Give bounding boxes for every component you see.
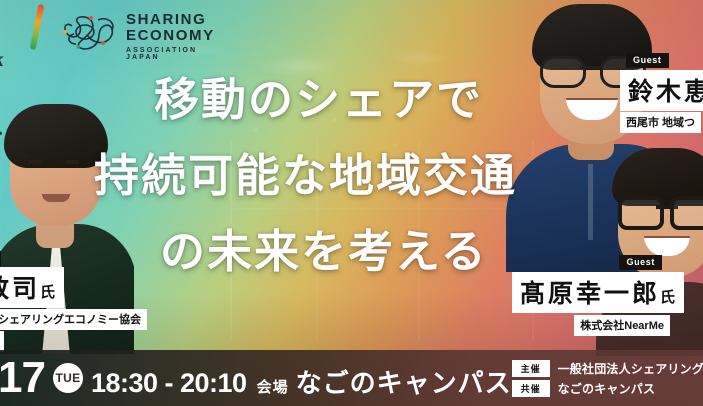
guest-2-name-suffix: 氏 bbox=[660, 289, 676, 306]
guest-1-role-badge: Guest bbox=[626, 53, 669, 68]
organizer-tag-co: 共催 bbox=[512, 380, 550, 397]
guest-2-name-main: 髙原幸一郎 bbox=[520, 280, 660, 308]
guest-1-name-row: 鈴木恵 bbox=[620, 70, 703, 111]
guest-2-role-badge: Guest bbox=[619, 255, 662, 270]
guest-2-name: 髙原幸一郎氏 bbox=[512, 272, 684, 313]
organizer-row: 主催 一般社団法人シェアリングエコ bbox=[512, 360, 703, 377]
moderator-name-main: 下敬司 bbox=[0, 275, 40, 303]
moderator-name-row: 下敬司氏 bbox=[0, 267, 147, 308]
organizer-tag-main: 主催 bbox=[512, 360, 550, 377]
rainbow-stroke-icon bbox=[30, 4, 45, 50]
title-line-2: 持続可能な地域交通 bbox=[94, 138, 552, 214]
logo-line-1: SHARING bbox=[126, 12, 218, 28]
moderator-affiliation-row-1: 社団法人シェアリングエコノミー協会 bbox=[0, 309, 147, 330]
organizer-name-main: 一般社団法人シェアリングエコ bbox=[558, 360, 703, 377]
event-banner: nk re. SHARING ECONOMY ASSOCIATION JAPAN… bbox=[0, 0, 703, 406]
event-day-of-week-badge: TUE bbox=[53, 363, 83, 393]
moderator-role-badge: erator bbox=[0, 251, 1, 266]
venue-label: 会場 bbox=[257, 376, 289, 397]
guest-2-name-plate: Guest 髙原幸一郎氏 株式会社NearMe bbox=[484, 252, 684, 336]
event-info-bar: 17 TUE 18:30 - 20:10 会場 なごのキャンパス 主催 一般社団… bbox=[0, 350, 703, 406]
event-time: 18:30 - 20:10 bbox=[91, 368, 247, 399]
think-line-1: nk bbox=[0, 48, 54, 71]
logo-line-3: ASSOCIATION JAPAN bbox=[126, 47, 218, 61]
guest-1-affiliation: 西尾市 地域つ bbox=[620, 112, 701, 133]
event-datetime-group: 17 TUE 18:30 - 20:10 会場 なごのキャンパス bbox=[0, 356, 512, 400]
guest-1-role-row: Guest bbox=[626, 50, 703, 68]
moderator-name: 下敬司氏 bbox=[0, 267, 64, 308]
guest-2-lens-left bbox=[618, 196, 664, 230]
organizer-row: 共催 なごのキャンパス bbox=[512, 380, 703, 397]
moderator-name-plate: erator 下敬司氏 社団法人シェアリングエコノミー協会 副支部長 bbox=[0, 248, 147, 352]
guest-2-glasses-icon bbox=[618, 196, 703, 222]
moderator-eye-right bbox=[66, 160, 79, 164]
guest-1-affiliation-row: 西尾市 地域つ bbox=[620, 112, 703, 133]
guest-1-name-plate: Guest 鈴木恵 西尾市 地域つ bbox=[620, 50, 703, 133]
sharing-economy-knot-mark bbox=[58, 10, 122, 56]
moderator-brow-right bbox=[64, 152, 80, 155]
moderator-role-row: erator bbox=[0, 248, 147, 266]
guest-2-lens-right bbox=[670, 196, 703, 230]
guest-2-affiliation: 株式会社NearMe bbox=[574, 315, 670, 336]
guest-2-name-row: 髙原幸一郎氏 bbox=[484, 272, 684, 313]
guest-2-affiliation-row: 株式会社NearMe bbox=[484, 315, 670, 336]
moderator-affiliation-2: 副支部長 bbox=[0, 331, 4, 352]
title-line-1: 移動のシェアで bbox=[154, 62, 552, 138]
sharing-economy-logo-text: SHARING ECONOMY ASSOCIATION JAPAN bbox=[126, 12, 218, 61]
moderator-affiliation-row-2: 副支部長 bbox=[0, 331, 147, 352]
sharing-economy-logo: SHARING ECONOMY ASSOCIATION JAPAN bbox=[58, 8, 218, 60]
moderator-affiliation-1: 社団法人シェアリングエコノミー協会 bbox=[0, 309, 147, 330]
guest-1-name-main: 鈴木恵 bbox=[628, 78, 703, 106]
guest-2-role-row: Guest bbox=[484, 252, 662, 270]
guest-1-name: 鈴木恵 bbox=[620, 70, 703, 111]
think-line-2: re. bbox=[0, 117, 54, 140]
logo-line-2: ECONOMY bbox=[126, 28, 218, 44]
organizers-group: 主催 一般社団法人シェアリングエコ 共催 なごのキャンパス bbox=[512, 360, 703, 397]
event-day: 17 bbox=[0, 356, 45, 400]
venue-name: なごのキャンパス bbox=[296, 363, 512, 400]
guest-1-placket bbox=[588, 164, 593, 240]
page-title: 移動のシェアで 持続可能な地域交通 の未来を考える bbox=[82, 62, 552, 290]
moderator-name-suffix: 氏 bbox=[40, 284, 56, 301]
organizer-name-co: なごのキャンパス bbox=[558, 380, 656, 397]
think-more-wordmark: nk re. bbox=[0, 2, 54, 54]
